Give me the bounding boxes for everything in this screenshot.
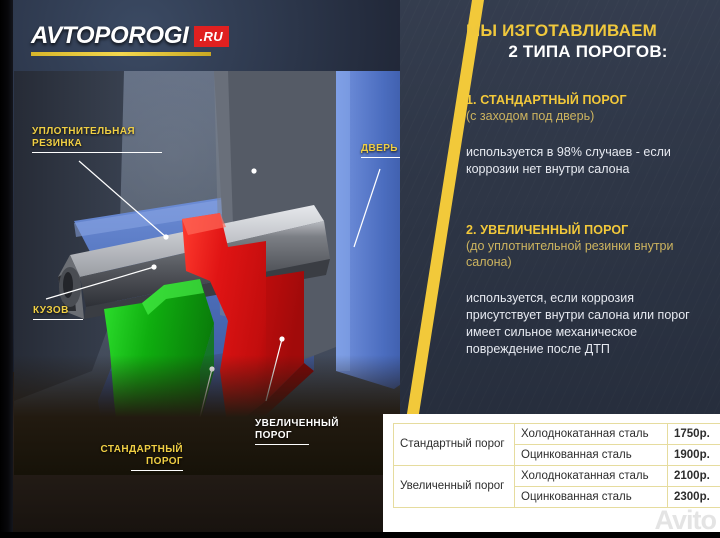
label-seal-line1: УПЛОТНИТЕЛЬНАЯ [32,126,135,137]
headline-line2: 2 ТИПА ПОРОГОВ: [466,41,710,62]
section-standard-subtitle: (с заходом под дверь) [466,108,710,124]
section-extended-body: используется, если коррозия присутствует… [466,290,710,358]
label-extended-line2: ПОРОГ [255,430,292,441]
section-extended-body-wrap: используется, если коррозия присутствует… [466,290,710,358]
table-row: Увеличенный порог Холоднокатанная сталь … [394,466,720,487]
price-table-panel: Стандартный порог Холоднокатанная сталь … [383,414,720,538]
price-steel-type: Оцинкованная сталь [515,445,668,466]
section-extended: 2. УВЕЛИЧЕННЫЙ ПОРОГ (до уплотнительной … [466,222,710,270]
label-standard-line1: СТАНДАРТНЫЙ [101,444,184,455]
price-value: 2300р. [668,487,720,508]
door-edge-highlight [336,71,350,371]
poster-root: УПЛОТНИТЕЛЬНАЯ РЕЗИНКА ДВЕРЬ КУЗОВ СТАНД… [0,0,720,538]
headline-line1: МЫ ИЗГОТАВЛИВАЕМ [466,20,710,41]
label-extended-sill: УВЕЛИЧЕННЫЙ ПОРОГ [255,418,351,445]
brand-underline-bar [31,52,211,56]
brand-logo-row: AVTOPOROGI .RU [31,22,229,50]
table-row: Стандартный порог Холоднокатанная сталь … [394,424,720,445]
label-door-text: ДВЕРЬ [361,143,398,154]
headline-block: МЫ ИЗГОТАВЛИВАЕМ 2 ТИПА ПОРОГОВ: [466,20,710,62]
bottom-black-strip [0,532,720,538]
section-standard-heading: 1. СТАНДАРТНЫЙ ПОРОГ [466,92,710,108]
price-steel-type: Холоднокатанная сталь [515,466,668,487]
label-extended-line1: УВЕЛИЧЕННЫЙ [255,418,339,429]
label-body: КУЗОВ [33,305,83,320]
label-body-text: КУЗОВ [33,305,69,316]
label-standard-line2: ПОРОГ [146,456,183,467]
left-black-border [0,0,13,538]
section-standard-body-wrap: используется в 98% случаев - если корроз… [466,144,710,178]
section-standard: 1. СТАНДАРТНЫЙ ПОРОГ (с заходом под двер… [466,92,710,124]
brand-name: AVTOPOROGI [31,22,188,50]
price-value: 1900р. [668,445,720,466]
price-steel-type: Холоднокатанная сталь [515,424,668,445]
brand-tld-badge: .RU [194,26,229,47]
label-standard-underline [131,470,183,471]
section-extended-heading: 2. УВЕЛИЧЕННЫЙ ПОРОГ [466,222,710,238]
section-extended-subtitle: (до уплотнительной резинки внутри салона… [466,238,710,270]
section-standard-body: используется в 98% случаев - если корроз… [466,144,710,178]
label-seal-underline [32,152,162,153]
headline: МЫ ИЗГОТАВЛИВАЕМ 2 ТИПА ПОРОГОВ: [466,20,710,62]
price-group-label: Стандартный порог [394,424,515,466]
price-steel-type: Оцинкованная сталь [515,487,668,508]
label-seal-line2: РЕЗИНКА [32,138,82,149]
label-body-underline [33,319,83,320]
price-value: 2100р. [668,466,720,487]
brand-logo[interactable]: AVTOPOROGI .RU [31,22,229,56]
price-value: 1750р. [668,424,720,445]
label-standard-sill: СТАНДАРТНЫЙ ПОРОГ [91,444,183,471]
label-extended-underline [255,444,309,445]
price-group-label: Увеличенный порог [394,466,515,508]
price-table: Стандартный порог Холоднокатанная сталь … [393,423,720,508]
label-seal: УПЛОТНИТЕЛЬНАЯ РЕЗИНКА [32,126,162,153]
